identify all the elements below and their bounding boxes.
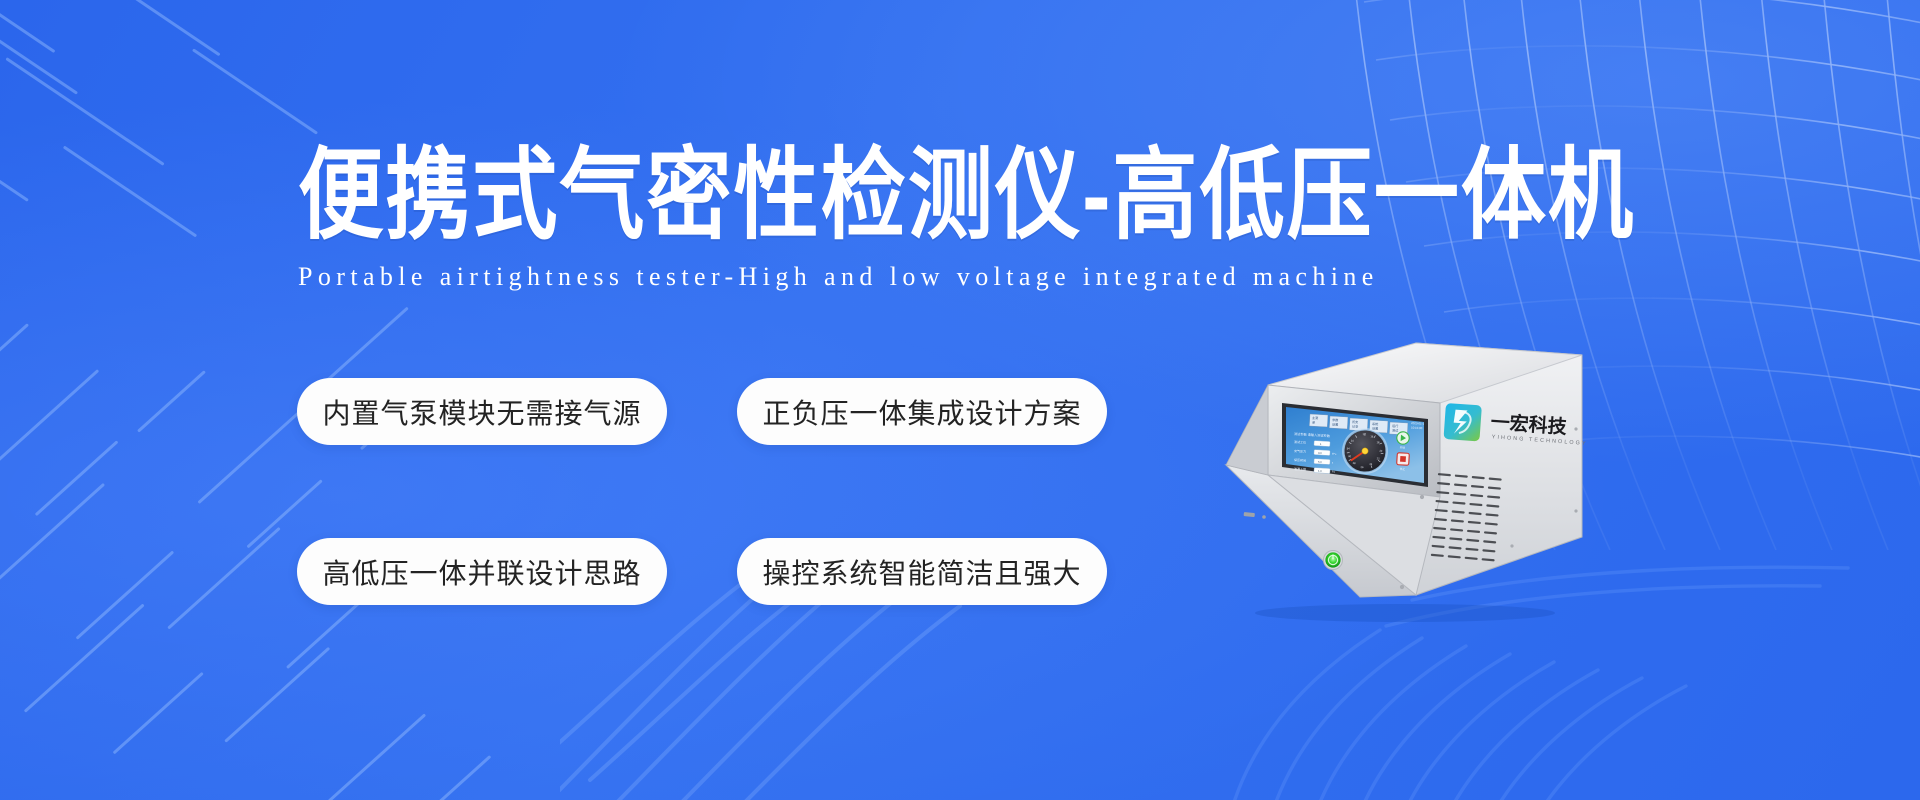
svg-text:开始: 开始: [1400, 445, 1406, 449]
product-device-icon: 主菜 单 参数 设置 历史 记录 系统 设置 运行 测试 2023-01-1 1…: [1190, 325, 1620, 625]
svg-text:设置: 设置: [1332, 422, 1338, 427]
promo-banner: 便携式气密性检测仪-高低压一体机 Portable airtightness t…: [0, 0, 1920, 800]
svg-text:记录: 记录: [1352, 424, 1358, 429]
power-button[interactable]: [1324, 551, 1343, 570]
svg-text:10:10.00: 10:10.00: [1411, 426, 1423, 431]
feature-pill-2[interactable]: 正负压一体集成设计方案: [737, 378, 1107, 445]
svg-text:单: 单: [1312, 420, 1315, 425]
svg-text:参数: 参数: [1332, 417, 1338, 422]
feature-pill-1[interactable]: 内置气泵模块无需接气源: [297, 378, 667, 445]
product-image: 主菜 单 参数 设置 历史 记录 系统 设置 运行 测试 2023-01-1 1…: [1190, 325, 1620, 625]
svg-text:泄漏上限: 泄漏上限: [1294, 466, 1306, 472]
svg-text:kPa: kPa: [1332, 453, 1337, 456]
feature-pill-row: 内置气泵模块无需接气源 正负压一体集成设计方案: [297, 378, 1107, 445]
headline-block: 便携式气密性检测仪-高低压一体机 Portable airtightness t…: [298, 140, 1658, 292]
usb-port: [1244, 512, 1266, 519]
svg-text:保压时间: 保压时间: [1294, 457, 1306, 463]
svg-text:测试: 测试: [1392, 428, 1398, 433]
svg-text:充气压力: 充气压力: [1294, 448, 1306, 454]
page-title: 便携式气密性检测仪-高低压一体机: [298, 140, 1644, 251]
feature-pill-row: 高低压一体并联设计思路 操控系统智能简洁且强大: [297, 538, 1107, 605]
svg-text:运行: 运行: [1392, 423, 1398, 428]
feature-pill-list: 内置气泵模块无需接气源 正负压一体集成设计方案 高低压一体并联设计思路 操控系统…: [297, 378, 1107, 605]
svg-text:测试工位: 测试工位: [1294, 439, 1306, 445]
svg-text:系统: 系统: [1372, 421, 1378, 426]
svg-text:停止: 停止: [1400, 467, 1406, 471]
feature-pill-3[interactable]: 高低压一体并联设计思路: [297, 538, 667, 605]
feature-pill-4[interactable]: 操控系统智能简洁且强大: [737, 538, 1107, 605]
svg-text:历史: 历史: [1352, 419, 1358, 424]
svg-text:主菜: 主菜: [1312, 415, 1318, 420]
